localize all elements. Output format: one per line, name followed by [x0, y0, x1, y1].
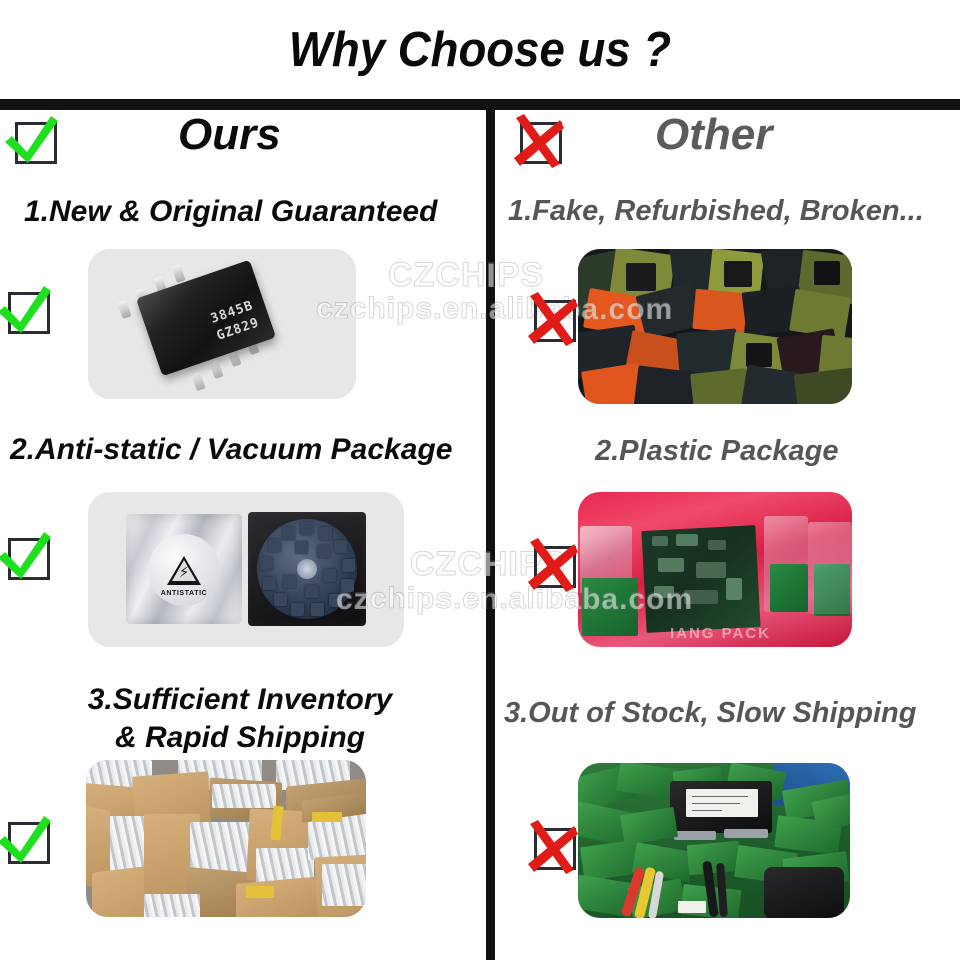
green-check-icon: [0, 812, 54, 870]
why-choose-us-infographic: Why Choose us ? Ours Other 1.New & Origi…: [0, 0, 960, 960]
row-3-ours-label-line-2: & Rapid Shipping: [20, 722, 460, 754]
black-adapter: [764, 867, 844, 918]
row-2-ours-label: 2.Anti-static / Vacuum Package: [10, 434, 480, 466]
module-label: [686, 789, 758, 817]
red-cross-icon: [522, 290, 580, 348]
row-3-ours-label-line-1: 3.Sufficient Inventory: [20, 684, 460, 716]
column-header-other-label: Other: [655, 110, 772, 160]
antistatic-vacuum-package-photo: ⚡ ANTISTATIC: [88, 492, 404, 647]
new-original-chip-photo: 3845B GZ829: [88, 249, 356, 399]
check-glyph: [3, 112, 61, 170]
black-module: [670, 781, 772, 833]
plastic-package-photo: IANG PACK: [578, 492, 852, 647]
page-title: Why Choose us ?: [34, 22, 927, 78]
row-1-ours-label: 1.New & Original Guaranteed: [24, 196, 476, 228]
cross-glyph: [508, 112, 566, 170]
tape-reel: [257, 519, 357, 619]
column-header-ours-label: Ours: [178, 110, 281, 160]
cross-glyph: [522, 818, 580, 876]
green-check-icon: [3, 112, 61, 170]
red-cross-icon: [522, 818, 580, 876]
header-divider-horizontal: [0, 99, 960, 110]
stocked-cartons-photo: [86, 760, 366, 917]
green-check-icon: [0, 528, 54, 586]
component-tray: [248, 512, 366, 626]
reel-hub: [297, 559, 317, 579]
antistatic-label: ANTISTATIC: [148, 590, 220, 597]
pack-watermark-text: IANG PACK: [670, 625, 771, 642]
row-2-other-label: 2.Plastic Package: [595, 436, 955, 467]
red-cross-icon: [508, 112, 566, 170]
scrap-chips-pile-photo: [578, 249, 852, 404]
lightning-bolt-icon: ⚡: [179, 565, 190, 580]
green-pcb-scrap-photo: [578, 763, 850, 918]
row-1-other-label: 1.Fake, Refurbished, Broken...: [508, 196, 960, 227]
antistatic-bag: ⚡ ANTISTATIC: [126, 514, 242, 624]
green-check-icon: [0, 282, 54, 340]
check-glyph: [0, 812, 54, 870]
antistatic-bag-disc: ⚡ ANTISTATIC: [148, 534, 220, 606]
cross-glyph: [522, 290, 580, 348]
watermark-brand: CZCHIPS: [388, 256, 544, 295]
column-header-ours: Ours: [0, 110, 486, 180]
cross-glyph: [522, 536, 580, 594]
column-divider-vertical: [486, 105, 495, 960]
red-cross-icon: [522, 536, 580, 594]
check-glyph: [0, 282, 54, 340]
check-glyph: [0, 528, 54, 586]
row-3-other-label: 3.Out of Stock, Slow Shipping: [504, 698, 960, 729]
